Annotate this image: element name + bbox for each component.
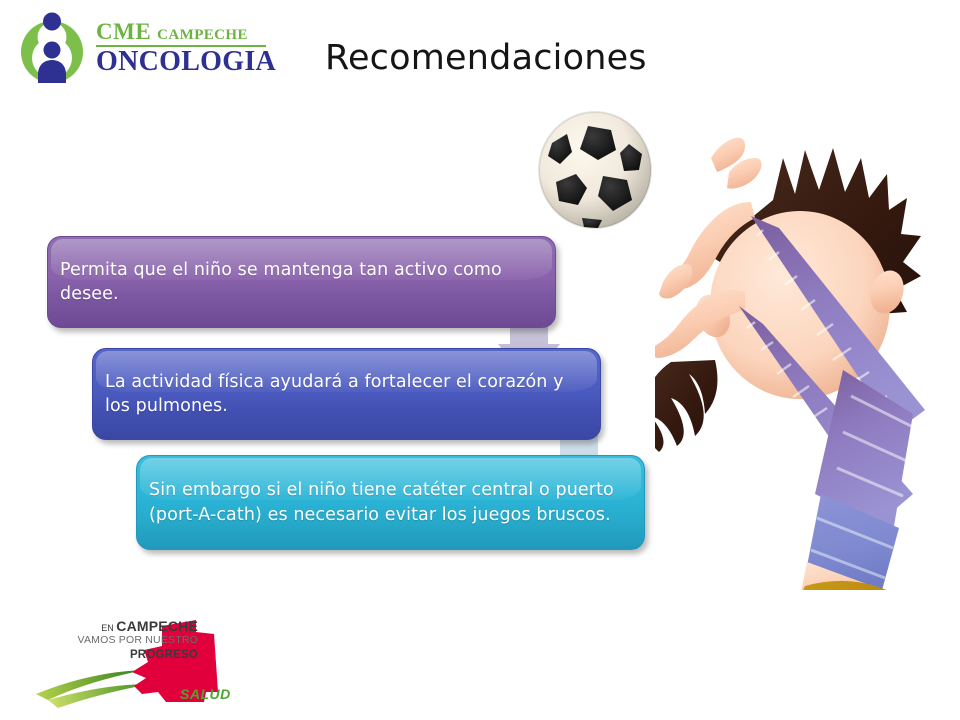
boy-upside-down <box>655 120 960 590</box>
slogan-line3: PROGRESO <box>48 648 198 663</box>
process-step-1[interactable]: Permita que el niño se mantenga tan acti… <box>47 236 556 328</box>
slogan-en: EN <box>101 623 114 633</box>
process-step-2[interactable]: La actividad física ayudará a fortalecer… <box>92 348 601 440</box>
salud-badge: SALUD <box>180 686 231 702</box>
process-step-3-text: Sin embargo si el niño tiene catéter cen… <box>137 478 644 526</box>
page-title: Recomendaciones <box>325 38 647 78</box>
slogan-line2: VAMOS POR NUESTRO <box>48 634 198 648</box>
campeche-slogan: EN CAMPECHE VAMOS POR NUESTRO PROGRESO <box>48 618 198 663</box>
slogan-campeche: CAMPECHE <box>116 618 198 634</box>
process-step-2-text: La actividad física ayudará a fortalecer… <box>93 370 600 418</box>
cme-campeche-word: CAMPECHE <box>157 27 248 43</box>
cme-acronym: CME <box>96 19 151 44</box>
cme-person-circle-icon <box>18 12 90 86</box>
slide-root: CMECAMPECHE ONCOLOGIA Recomendaciones <box>0 0 960 720</box>
campeche-salud-logo: EN CAMPECHE VAMOS POR NUESTRO PROGRESO S… <box>30 608 250 718</box>
cme-oncologia-logo: CMECAMPECHE ONCOLOGIA <box>18 8 278 90</box>
cme-oncologia-word: ONCOLOGIA <box>96 48 276 76</box>
process-step-3[interactable]: Sin embargo si el niño tiene catéter cen… <box>136 455 645 550</box>
hair-fringe <box>655 360 717 452</box>
cme-wordmark: CMECAMPECHE ONCOLOGIA <box>96 20 276 76</box>
soccer-ball <box>536 108 654 230</box>
process-step-1-text: Permita que el niño se mantenga tan acti… <box>48 258 555 306</box>
